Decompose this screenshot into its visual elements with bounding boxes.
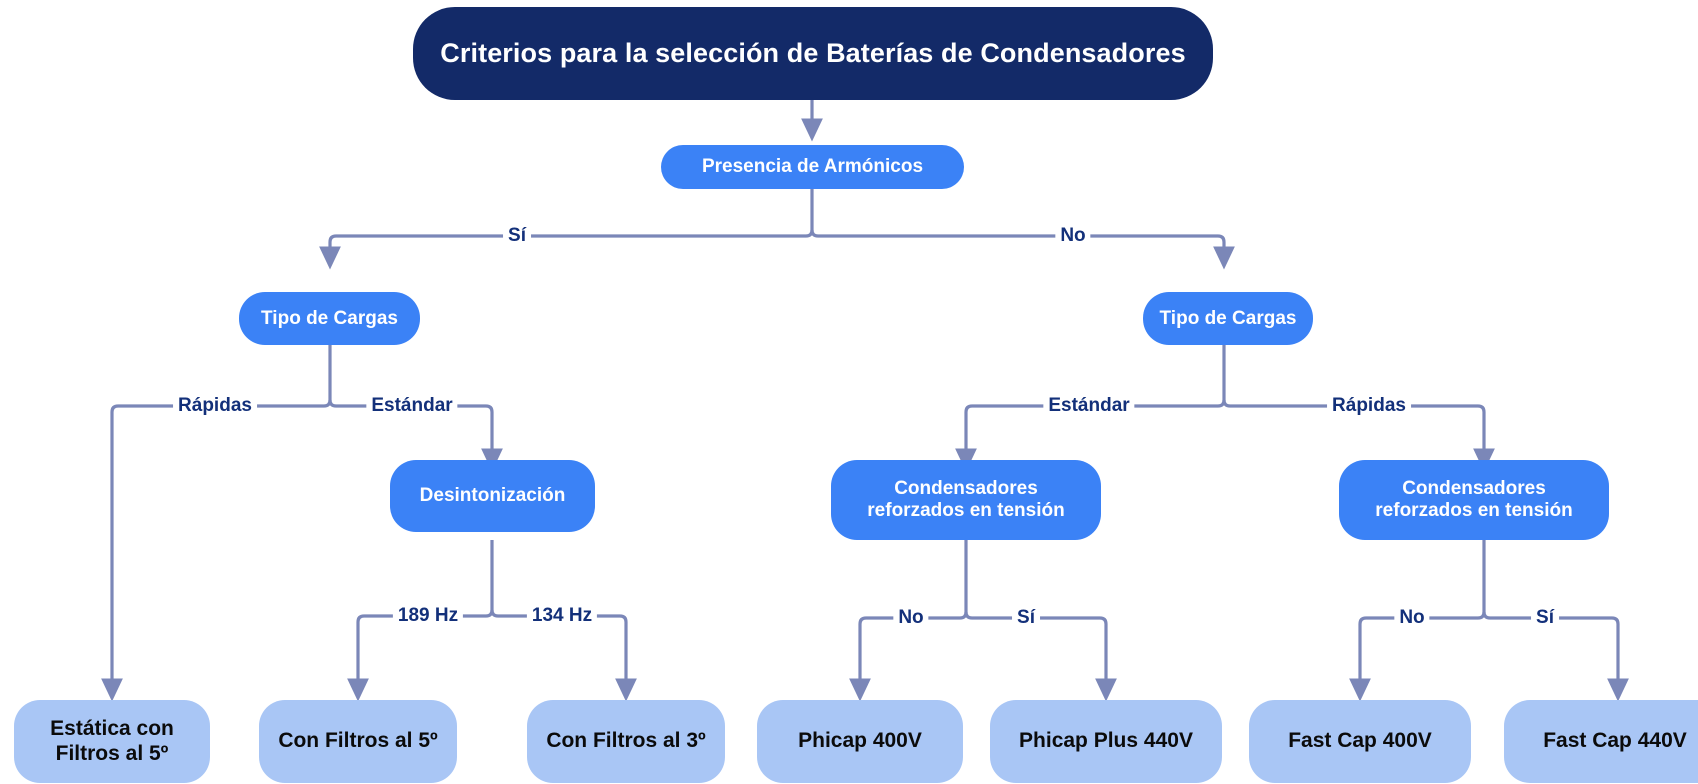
leaf-con-filtros-3[interactable]: Con Filtros al 3º [527,700,725,783]
edge-label-condest-no: No [893,607,928,629]
edge-label-condrap-no: No [1394,607,1429,629]
edge-label-desint-134hz: 134 Hz [527,605,597,627]
leaf-estatica-line1: Estática con [50,717,174,741]
node-root-label: Criterios para la selección de Baterías … [440,38,1185,69]
edge-label-armonicos-si: Sí [503,225,531,247]
leaf-estatica-con-filtros-5[interactable]: Estática con Filtros al 5º [14,700,210,783]
edge-label-cargasno-rapidas: Rápidas [1327,395,1411,417]
node-desintonizacion-label: Desintonización [420,485,566,507]
edge-label-condrap-si: Sí [1531,607,1559,629]
node-condensadores-reforzados-rapidas[interactable]: Condensadores reforzados en tensión [1339,460,1609,540]
edge-label-cargassi-estandar: Estándar [366,395,457,417]
node-cond-rapidas-line2: reforzados en tensión [1375,500,1572,522]
edge-label-condest-si: Sí [1012,607,1040,629]
edge-label-desint-189hz: 189 Hz [393,605,463,627]
node-tipo-cargas-no[interactable]: Tipo de Cargas [1143,292,1313,345]
edge-armonicos-no [812,230,1224,258]
leaf-fast-cap-400v[interactable]: Fast Cap 400V [1249,700,1471,783]
edge-label-cargasno-estandar: Estándar [1043,395,1134,417]
leaf-con-filtros-3-label: Con Filtros al 3º [546,729,705,753]
leaf-phicap-400v-label: Phicap 400V [798,729,922,753]
leaf-fast-cap-400v-label: Fast Cap 400V [1288,729,1432,753]
leaf-phicap-plus-440v-label: Phicap Plus 440V [1019,729,1193,753]
connector-layer [0,0,1698,784]
leaf-fast-cap-440v-label: Fast Cap 440V [1543,729,1687,753]
leaf-con-filtros-5[interactable]: Con Filtros al 5º [259,700,457,783]
node-tipo-cargas-no-label: Tipo de Cargas [1160,308,1297,330]
leaf-con-filtros-5-label: Con Filtros al 5º [278,729,437,753]
node-cond-rapidas-line1: Condensadores [1375,478,1572,500]
leaf-phicap-plus-440v[interactable]: Phicap Plus 440V [990,700,1222,783]
edge-armonicos-si [330,230,812,258]
edge-label-cargassi-rapidas: Rápidas [173,395,257,417]
node-tipo-cargas-si-label: Tipo de Cargas [261,308,398,330]
node-presencia-armonicos-label: Presencia de Armónicos [702,156,923,178]
flowchart-canvas: Criterios para la selección de Baterías … [0,0,1698,784]
edge-label-armonicos-no: No [1055,225,1090,247]
leaf-estatica-line2: Filtros al 5º [50,742,174,766]
node-desintonizacion[interactable]: Desintonización [390,460,595,532]
node-presencia-armonicos[interactable]: Presencia de Armónicos [661,145,964,189]
edge-cargassi-rapidas [112,400,330,690]
node-root-title[interactable]: Criterios para la selección de Baterías … [413,7,1213,100]
leaf-phicap-400v[interactable]: Phicap 400V [757,700,963,783]
node-cond-estandar-line2: reforzados en tensión [867,500,1064,522]
node-cond-estandar-line1: Condensadores [867,478,1064,500]
leaf-fast-cap-440v[interactable]: Fast Cap 440V [1504,700,1698,783]
node-condensadores-reforzados-estandar[interactable]: Condensadores reforzados en tensión [831,460,1101,540]
node-tipo-cargas-si[interactable]: Tipo de Cargas [239,292,420,345]
